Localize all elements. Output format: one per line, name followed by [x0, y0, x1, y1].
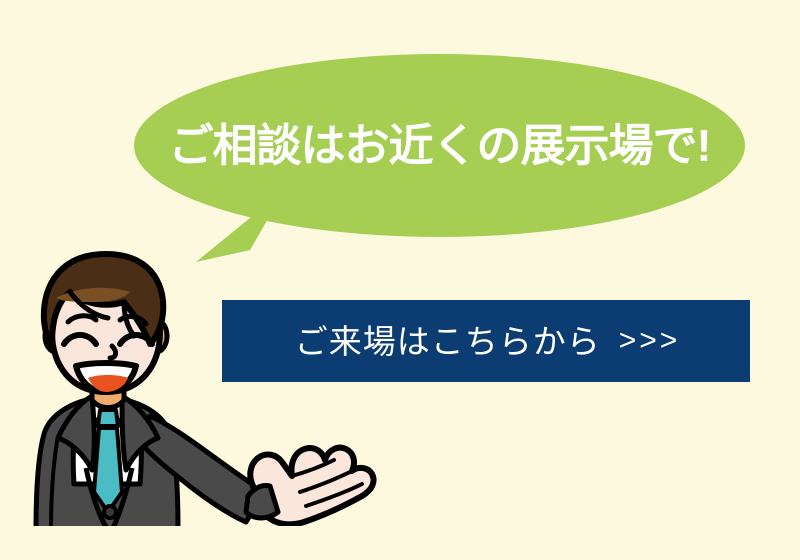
chevron-right-icon-3: >	[660, 326, 678, 356]
businessman-figure	[0, 240, 400, 560]
chevron-right-icon-1: >	[619, 326, 637, 356]
head-group	[44, 254, 167, 392]
figure-group	[36, 254, 374, 530]
suit-group	[36, 394, 264, 530]
jacket-button	[104, 506, 116, 518]
businessman-illustration	[0, 240, 400, 560]
promo-banner: ご相談はお近くの展示場で! ご来場はこちらから > > >	[0, 0, 800, 560]
necktie	[94, 428, 122, 512]
speech-bubble-text: ご相談はお近くの展示場で!	[134, 54, 745, 237]
chevron-right-icon-2: >	[639, 326, 657, 356]
presenting-hand	[246, 448, 374, 525]
tie-knot	[98, 410, 118, 426]
sleeve-cuff	[246, 485, 278, 518]
chevron-group: > > >	[619, 326, 678, 356]
